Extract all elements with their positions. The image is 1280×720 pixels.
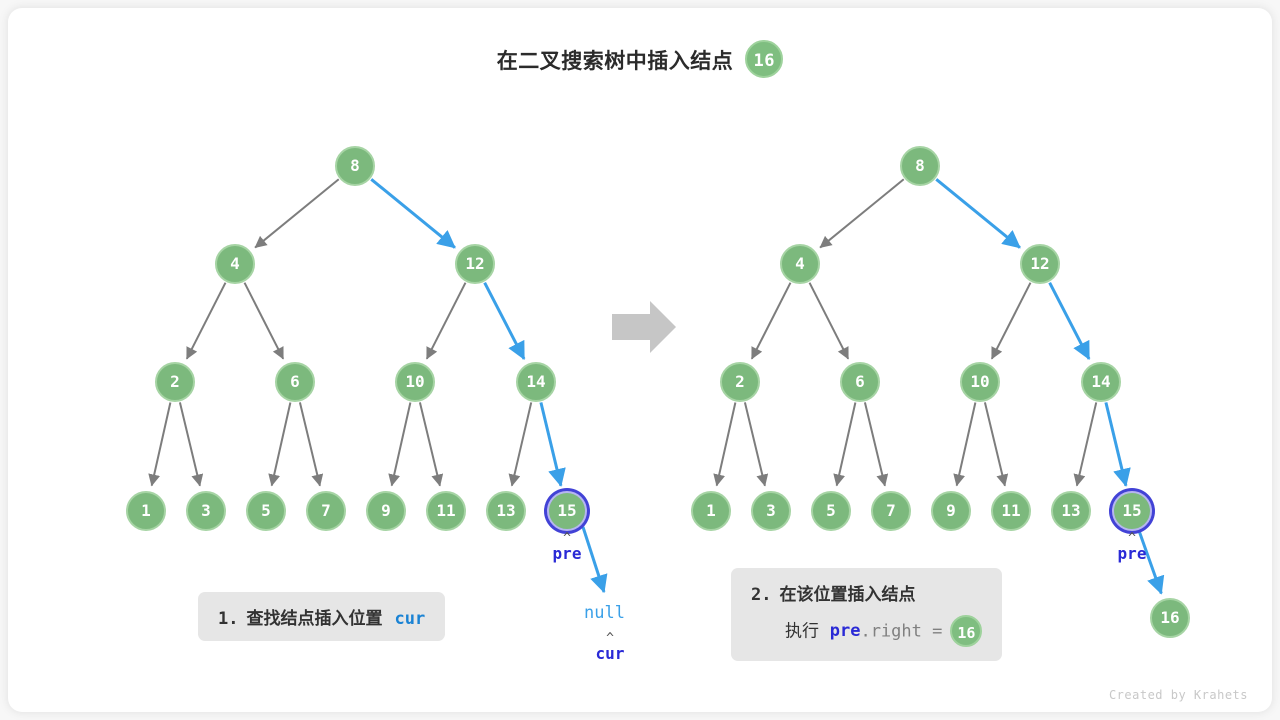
caret-up-icon: ^	[1102, 534, 1162, 544]
left-tree-node-10: 10	[395, 362, 435, 402]
step-1-box: 1.查找结点插入位置cur	[198, 592, 445, 641]
right-tree-node-15: 15	[1112, 491, 1152, 531]
step-2-pre: pre	[830, 621, 861, 641]
right-tree-node-2: 2	[720, 362, 760, 402]
left-edge-2-to-1	[152, 402, 171, 485]
step-2-box: 2.在该位置插入结点 执行 pre.right =16	[731, 568, 1002, 661]
left-tree-node-8: 8	[335, 146, 375, 186]
right-tree-node-5: 5	[811, 491, 851, 531]
caret-up-icon: ^	[537, 534, 597, 544]
credit-text: Created by Krahets	[1109, 688, 1248, 702]
left-pre-pointer: ^ pre	[537, 534, 597, 563]
left-edge-2-to-3	[180, 402, 200, 485]
right-tree-node-16: 16	[1150, 598, 1190, 638]
left-pre-label: pre	[553, 544, 582, 563]
left-tree-node-3: 3	[186, 491, 226, 531]
right-edge-12-to-10	[992, 283, 1031, 359]
right-tree-node-6: 6	[840, 362, 880, 402]
left-edge-6-to-7	[300, 402, 320, 485]
right-tree-node-13: 13	[1051, 491, 1091, 531]
right-tree-node-8: 8	[900, 146, 940, 186]
left-edge-14-to-15	[541, 402, 561, 485]
page-title-text: 在二叉搜索树中插入结点	[497, 50, 734, 73]
page-title: 在二叉搜索树中插入结点16	[0, 40, 1280, 80]
left-cur-pointer: ^ cur	[580, 634, 640, 663]
left-edge-4-to-2	[187, 283, 226, 359]
right-tree-node-9: 9	[931, 491, 971, 531]
step-2-verb: 执行	[785, 621, 819, 640]
step-2-number: 2.	[751, 585, 771, 605]
left-edge-14-to-13	[512, 402, 531, 485]
caret-up-icon: ^	[580, 634, 640, 644]
right-pre-pointer: ^ pre	[1102, 534, 1162, 563]
left-edge-6-to-5	[272, 402, 291, 485]
right-edge-4-to-2	[752, 283, 791, 359]
left-tree-node-14: 14	[516, 362, 556, 402]
left-edge-10-to-11	[420, 402, 440, 485]
left-tree-node-12: 12	[455, 244, 495, 284]
right-edge-8-to-12	[936, 179, 1020, 247]
right-tree-node-14: 14	[1081, 362, 1121, 402]
right-edge-14-to-13	[1077, 402, 1096, 485]
left-edge-12-to-14	[485, 283, 524, 359]
step-2-line2: 执行 pre.right =16	[751, 615, 982, 649]
step-2-field: .right =	[860, 621, 942, 641]
left-edge-8-to-12	[371, 179, 455, 247]
left-edge-4-to-6	[245, 283, 284, 359]
left-tree-node-11: 11	[426, 491, 466, 531]
right-tree-node-10: 10	[960, 362, 1000, 402]
left-edge-10-to-9	[392, 402, 411, 485]
right-edge-10-to-9	[957, 402, 976, 485]
left-tree-node-13: 13	[486, 491, 526, 531]
edges-layer	[0, 0, 1280, 720]
left-tree-node-9: 9	[366, 491, 406, 531]
right-edge-10-to-11	[985, 402, 1005, 485]
transition-arrow-icon	[612, 301, 676, 353]
right-edge-8-to-4	[820, 179, 904, 247]
left-tree-node-15: 15	[547, 491, 587, 531]
left-edge-12-to-10	[427, 283, 466, 359]
right-edge-14-to-15	[1106, 402, 1126, 485]
right-edge-2-to-3	[745, 402, 765, 485]
left-tree-node-7: 7	[306, 491, 346, 531]
right-edge-2-to-1	[717, 402, 736, 485]
right-tree-node-11: 11	[991, 491, 1031, 531]
step-2-value-badge: 16	[950, 615, 982, 647]
title-node-badge: 16	[745, 40, 783, 78]
right-edge-12-to-14	[1050, 283, 1089, 359]
right-tree-node-3: 3	[751, 491, 791, 531]
null-text: null	[584, 603, 625, 623]
left-tree-node-2: 2	[155, 362, 195, 402]
right-edge-6-to-7	[865, 402, 885, 485]
left-tree-node-6: 6	[275, 362, 315, 402]
right-tree-node-4: 4	[780, 244, 820, 284]
right-edge-6-to-5	[837, 402, 856, 485]
step-1-text: 查找结点插入位置	[246, 609, 382, 628]
left-tree-node-5: 5	[246, 491, 286, 531]
step-2-text: 在该位置插入结点	[779, 585, 915, 604]
left-tree-node-1: 1	[126, 491, 166, 531]
right-tree-node-1: 1	[691, 491, 731, 531]
step-1-pointer: cur	[394, 609, 425, 629]
left-edge-8-to-4	[255, 179, 339, 247]
left-tree-node-4: 4	[215, 244, 255, 284]
left-cur-label: cur	[596, 644, 625, 663]
right-edge-4-to-6	[810, 283, 849, 359]
right-pre-label: pre	[1118, 544, 1147, 563]
diagram-stage: 在二叉搜索树中插入结点16 841226101413579111315 8412…	[0, 0, 1280, 720]
step-1-number: 1.	[218, 609, 238, 629]
right-tree-node-7: 7	[871, 491, 911, 531]
right-tree-node-12: 12	[1020, 244, 1060, 284]
